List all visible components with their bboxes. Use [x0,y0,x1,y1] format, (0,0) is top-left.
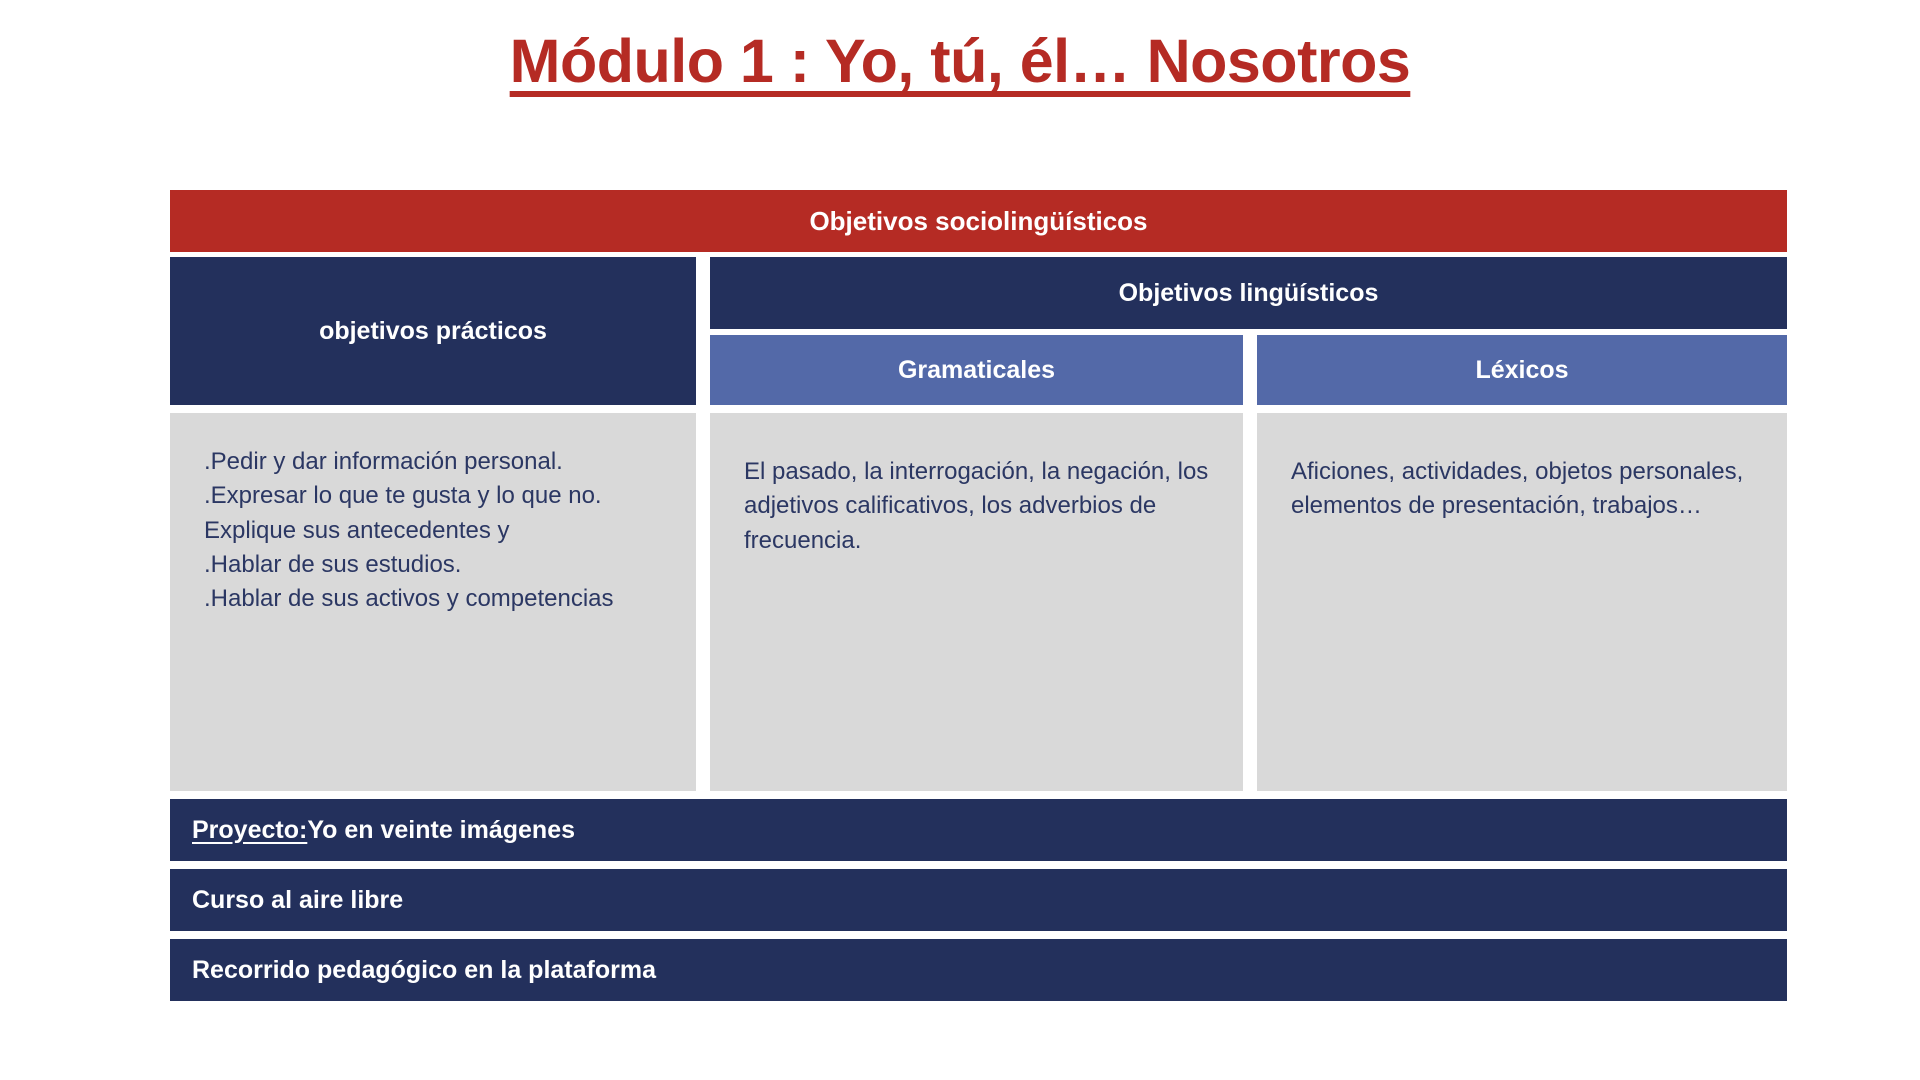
page-title: Módulo 1 : Yo, tú, él… Nosotros [0,26,1920,96]
header-lexicos: Léxicos [1257,335,1787,405]
bar-curso-label: Curso al aire libre [192,886,403,915]
bar-proyecto[interactable]: Proyecto: Yo en veinte imágenes [170,799,1787,861]
table-body-band: .Pedir y dar información personal..Expre… [170,413,1787,791]
cell-objetivos-practicos: .Pedir y dar información personal..Expre… [170,413,696,791]
header-subcolumns: Gramaticales Léxicos [710,335,1787,405]
header-linguisticos-group: Objetivos lingüísticos Gramaticales Léxi… [710,257,1787,405]
slide-root: Módulo 1 : Yo, tú, él… Nosotros Objetivo… [0,0,1920,1080]
cell-lexicos: Aficiones, actividades, objetos personal… [1257,413,1787,791]
bar-proyecto-prefix: Proyecto: [192,816,307,845]
bar-proyecto-text: Yo en veinte imágenes [307,816,575,845]
banner-objetivos-sociolinguisticos: Objetivos sociolingüísticos [170,190,1787,252]
objectives-table: Objetivos sociolingüísticos objetivos pr… [170,190,1787,1001]
header-objetivos-practicos: objetivos prácticos [170,257,696,405]
bar-recorrido-label: Recorrido pedagógico en la plataforma [192,956,656,985]
bar-curso-aire-libre[interactable]: Curso al aire libre [170,869,1787,931]
header-gramaticales: Gramaticales [710,335,1243,405]
bar-recorrido-pedagogico[interactable]: Recorrido pedagógico en la plataforma [170,939,1787,1001]
cell-gramaticales: El pasado, la interrogación, la negación… [710,413,1243,791]
header-objetivos-linguisticos: Objetivos lingüísticos [710,257,1787,329]
table-header-band: objetivos prácticos Objetivos lingüístic… [170,257,1787,405]
